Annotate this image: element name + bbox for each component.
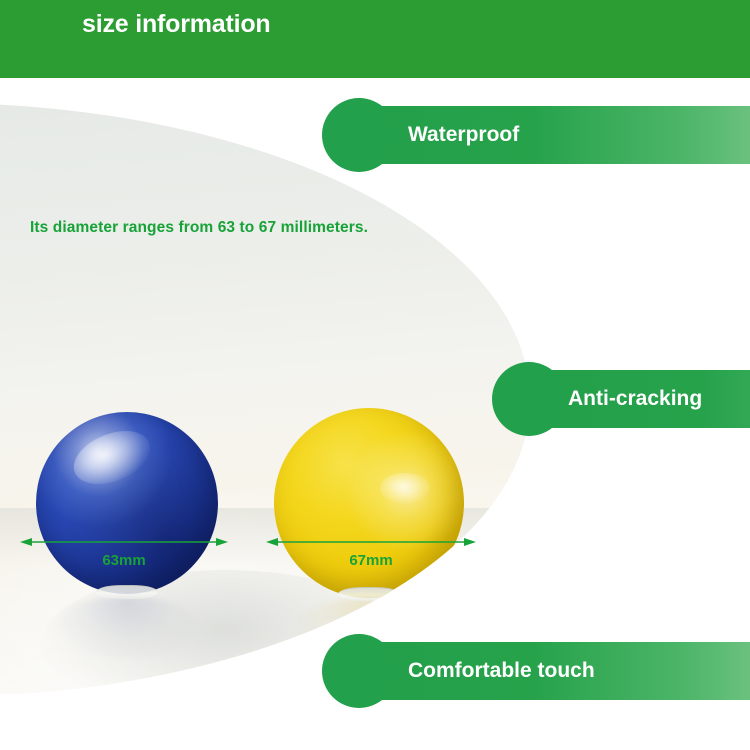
yellow-ball-measurement: 67mm <box>266 534 476 555</box>
yellow-ball-stand <box>338 587 400 601</box>
product-size-infographic: Its diameter ranges from 63 to 67 millim… <box>0 0 750 750</box>
feature-badge-label: Waterproof <box>408 120 519 150</box>
badge-circle-icon <box>322 634 396 708</box>
blue-ball-measurement: 63mm <box>20 534 228 555</box>
photo-clip-mask <box>0 104 540 694</box>
badge-circle-icon <box>322 98 396 172</box>
badge-circle-icon <box>492 362 566 436</box>
product-photo-panel <box>0 104 540 694</box>
yellow-ball-measure-label: 67mm <box>266 552 476 569</box>
page-title: size information <box>82 7 271 41</box>
double-arrow-icon <box>266 534 476 550</box>
blue-ball-reflection <box>56 596 198 658</box>
blue-ball-measure-label: 63mm <box>20 552 228 569</box>
blue-ball-stand <box>96 585 158 599</box>
feature-badge-label: Comfortable touch <box>408 656 595 686</box>
feature-badge-label: Anti-cracking <box>568 384 702 414</box>
double-arrow-icon <box>20 534 228 550</box>
yellow-ball <box>274 408 464 598</box>
diameter-caption: Its diameter ranges from 63 to 67 millim… <box>30 219 368 237</box>
